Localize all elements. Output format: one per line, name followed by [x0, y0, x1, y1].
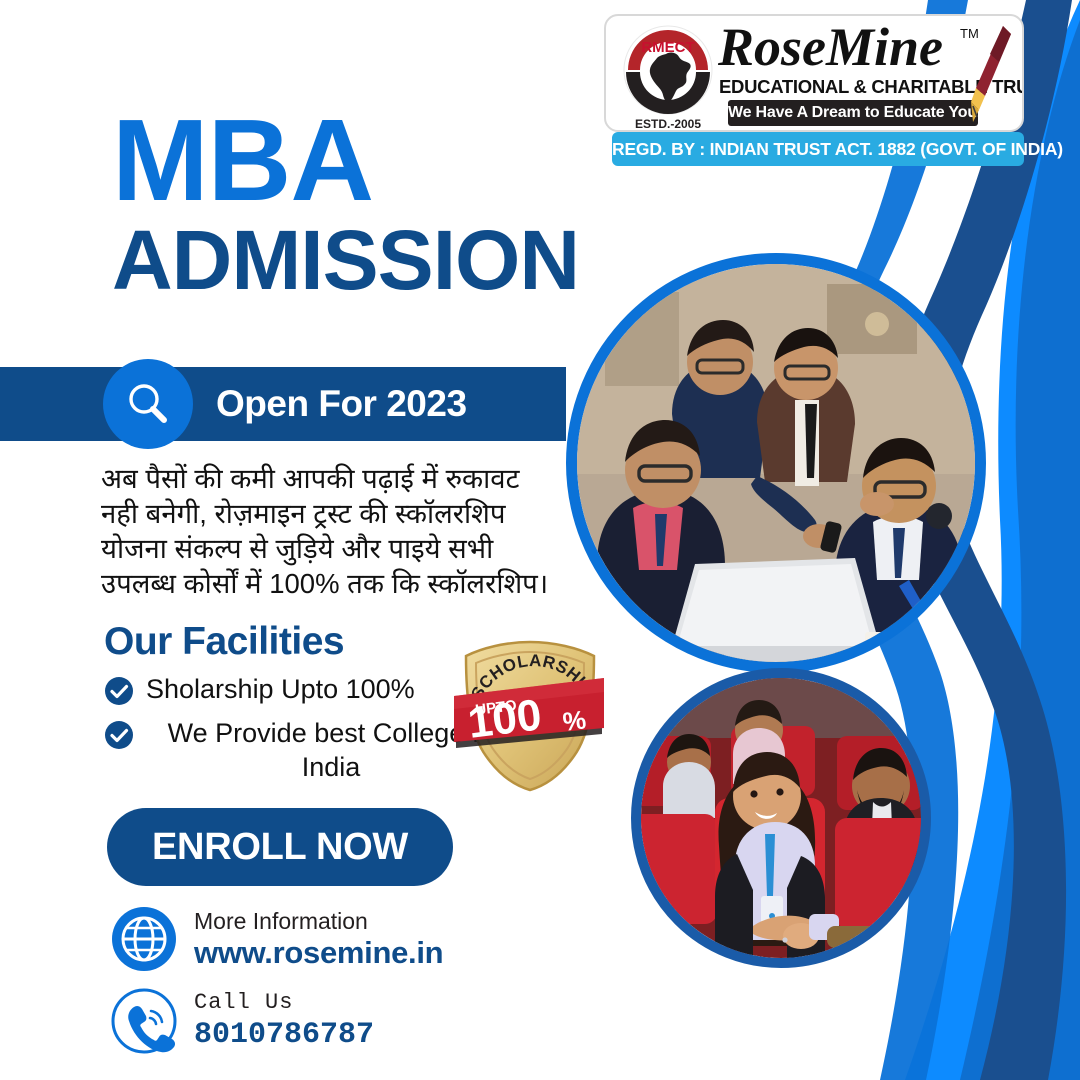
- open-for-label: Open For 2023: [216, 367, 556, 441]
- contact-block: More Information www.rosemine.in Call Us…: [110, 905, 540, 1069]
- phone-icon: [110, 987, 178, 1055]
- photo-content: [577, 264, 975, 662]
- contact-website-row[interactable]: More Information www.rosemine.in: [110, 905, 540, 973]
- title-line-mba: MBA: [112, 108, 579, 212]
- emblem-established: ESTD.-2005: [635, 117, 701, 131]
- contact-phone-row[interactable]: Call Us 8010786787: [110, 987, 540, 1055]
- search-icon: [123, 379, 173, 429]
- website-label: More Information: [194, 907, 443, 935]
- scholarship-shield-badge: SCHOLARSHIPS UPTO 100 %: [452, 636, 608, 794]
- facility-text: Sholarship Upto 100%: [146, 672, 415, 706]
- logo-tagline-bar: We Have A Dream to Educate You...: [728, 100, 978, 126]
- enroll-now-label: ENROLL NOW: [152, 826, 408, 869]
- search-badge-circle: [103, 359, 193, 449]
- registration-text: REGD. BY : INDIAN TRUST ACT. 1882 (GOVT.…: [612, 132, 1024, 166]
- globe-icon: [110, 905, 178, 973]
- student-in-auditorium-photo: [631, 668, 931, 968]
- check-circle-icon: [104, 720, 134, 750]
- page-title: MBA ADMISSION: [112, 108, 579, 308]
- emblem-label: RMECT: [641, 39, 694, 56]
- phone-label: Call Us: [194, 989, 374, 1017]
- badge-amount-text: 100: [465, 690, 544, 748]
- registration-strip: REGD. BY : INDIAN TRUST ACT. 1882 (GOVT.…: [612, 132, 1024, 166]
- logo-tagline: We Have A Dream to Educate You...: [728, 100, 978, 126]
- phone-value: 8010786787: [194, 1017, 374, 1053]
- organization-logo: RMECT ESTD.-2005 RoseMine TM EDUCATIONAL…: [604, 14, 1024, 174]
- photo-content: [641, 678, 921, 958]
- poster-canvas: RMECT ESTD.-2005 RoseMine TM EDUCATIONAL…: [0, 0, 1080, 1080]
- enroll-now-button[interactable]: ENROLL NOW: [107, 808, 453, 886]
- brand-name: RoseMine: [718, 18, 943, 76]
- students-with-laptop-photo: [566, 253, 986, 673]
- hindi-description: अब पैसों की कमी आपकी पढ़ाई में रुकावट नह…: [101, 461, 556, 601]
- title-line-admission: ADMISSION: [112, 212, 579, 308]
- badge-percent-text: %: [561, 704, 588, 737]
- check-circle-icon: [104, 676, 134, 706]
- rmect-emblem-icon: RMECT ESTD.-2005: [616, 20, 720, 132]
- logo-card: RMECT ESTD.-2005 RoseMine TM EDUCATIONAL…: [604, 14, 1024, 132]
- website-value: www.rosemine.in: [194, 935, 443, 971]
- pen-icon: [963, 22, 1015, 132]
- facilities-heading: Our Facilities: [104, 620, 344, 664]
